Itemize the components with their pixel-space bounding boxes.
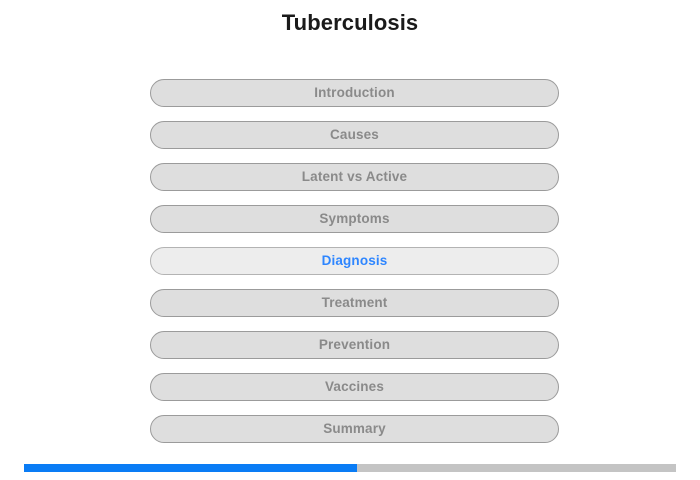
menu-button-label: Introduction xyxy=(314,86,395,100)
menu-button-label: Symptoms xyxy=(319,212,389,226)
menu-button-introduction[interactable]: Introduction xyxy=(150,79,559,107)
topic-menu: IntroductionCausesLatent vs ActiveSympto… xyxy=(150,79,559,457)
menu-button-latent-vs-active[interactable]: Latent vs Active xyxy=(150,163,559,191)
menu-button-summary[interactable]: Summary xyxy=(150,415,559,443)
menu-button-symptoms[interactable]: Symptoms xyxy=(150,205,559,233)
app-root: Tuberculosis IntroductionCausesLatent vs… xyxy=(0,0,700,480)
menu-button-causes[interactable]: Causes xyxy=(150,121,559,149)
page-title: Tuberculosis xyxy=(0,9,700,37)
menu-button-label: Latent vs Active xyxy=(302,170,407,184)
progress-bar-fill xyxy=(24,464,357,472)
progress-bar-track[interactable] xyxy=(24,464,676,472)
menu-button-label: Causes xyxy=(330,128,379,142)
menu-button-label: Summary xyxy=(323,422,386,436)
menu-button-treatment[interactable]: Treatment xyxy=(150,289,559,317)
menu-button-label: Vaccines xyxy=(325,380,384,394)
menu-button-diagnosis[interactable]: Diagnosis xyxy=(150,247,559,275)
menu-button-label: Diagnosis xyxy=(322,254,388,268)
menu-button-vaccines[interactable]: Vaccines xyxy=(150,373,559,401)
menu-button-label: Treatment xyxy=(322,296,388,310)
menu-button-prevention[interactable]: Prevention xyxy=(150,331,559,359)
menu-button-label: Prevention xyxy=(319,338,390,352)
